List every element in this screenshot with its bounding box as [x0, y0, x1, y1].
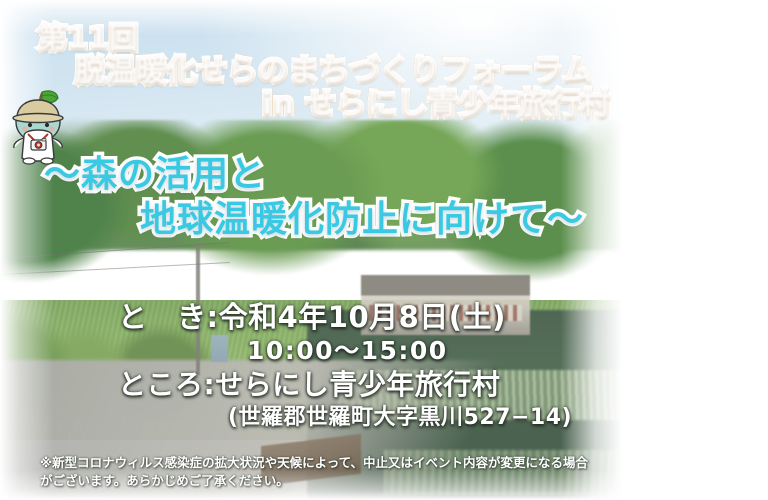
- headline-line-venue: in せらにし青少年旅行村: [0, 88, 768, 121]
- event-address: (世羅郡世羅町大字黒川527−14): [0, 403, 768, 433]
- subtitle-line-1: 〜森の活用と: [0, 152, 768, 197]
- subtitle-line-2: 地球温暖化防止に向けて〜: [0, 197, 768, 242]
- headline-line-title: 脱温暖化せらのまちづくりフォーラム: [0, 55, 768, 88]
- poster-subtitle: 〜森の活用と 地球温暖化防止に向けて〜: [0, 152, 768, 242]
- covid-notice-line-1: ※新型コロナウィルス感染症の拡大状況や天候によって、中止又はイベント内容が変更に…: [40, 454, 740, 472]
- covid-notice-line-2: がございます。あらかじめご了承ください。: [40, 472, 740, 490]
- covid-notice: ※新型コロナウィルス感染症の拡大状況や天候によって、中止又はイベント内容が変更に…: [40, 454, 740, 490]
- event-poster: 第11回 脱温暖化せらのまちづくりフォーラム in せらにし青少年旅行村 〜森の…: [0, 0, 768, 500]
- poster-content: 第11回 脱温暖化せらのまちづくりフォーラム in せらにし青少年旅行村 〜森の…: [0, 0, 768, 500]
- poster-headline: 第11回 脱温暖化せらのまちづくりフォーラム in せらにし青少年旅行村: [0, 22, 768, 121]
- event-time: 10:00〜15:00: [0, 335, 768, 367]
- event-details: と き:令和4年10月8日(土) 10:00〜15:00 ところ:せらにし青少年…: [0, 300, 768, 433]
- event-place: ところ:せらにし青少年旅行村: [0, 367, 768, 403]
- event-date: と き:令和4年10月8日(土): [0, 300, 768, 335]
- headline-line-edition: 第11回: [0, 22, 768, 55]
